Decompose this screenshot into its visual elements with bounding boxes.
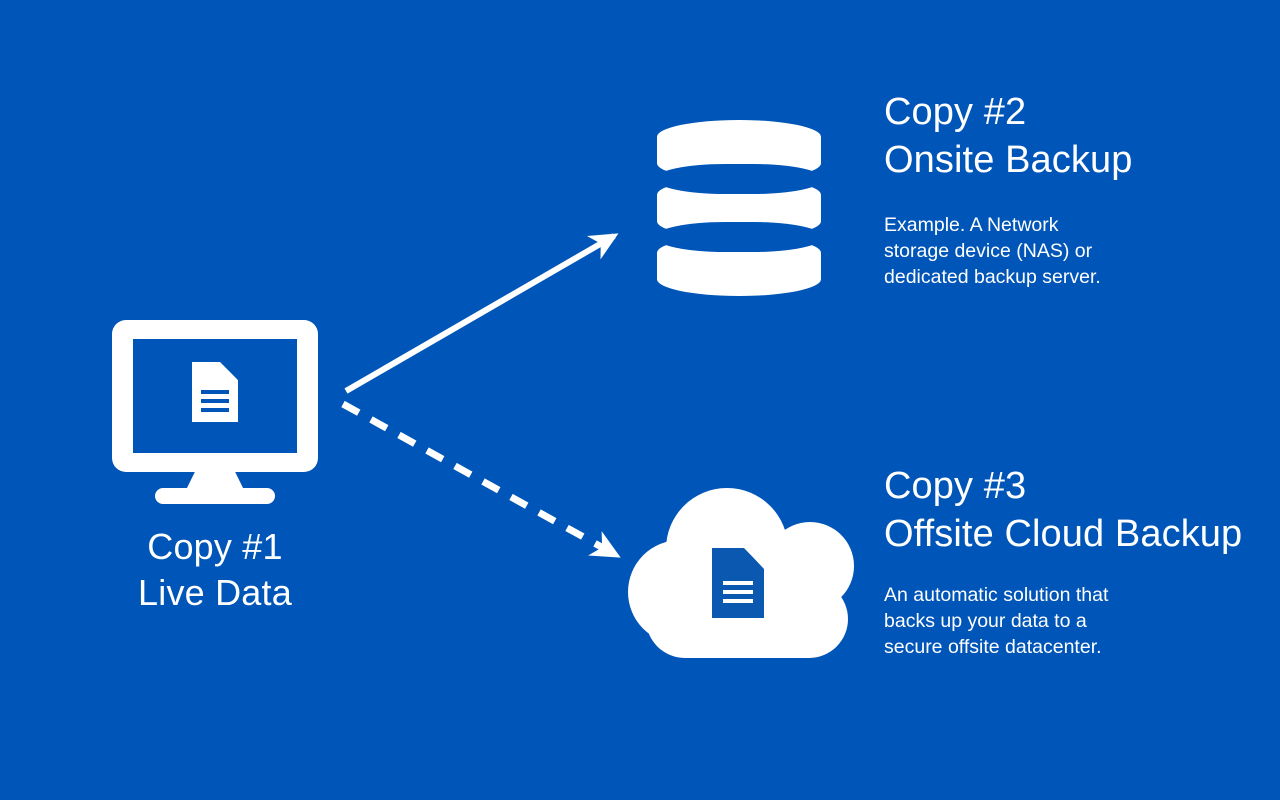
document-icon: [192, 362, 238, 422]
diagram-canvas: Copy #1 Live Data Copy #2 Onsite Backup …: [0, 0, 1280, 800]
cloud-icon: [628, 488, 864, 660]
desktop-monitor-icon: [100, 312, 330, 502]
text-block-copy2: Copy #2 Onsite Backup Example. A Network…: [884, 88, 1274, 290]
database-groove-lower: [655, 222, 823, 252]
copy2-heading: Copy #2 Onsite Backup: [884, 88, 1274, 184]
text-block-copy3: Copy #3 Offsite Cloud Backup An automati…: [884, 462, 1280, 660]
database-groove-upper: [655, 164, 823, 194]
copy3-description: An automatic solution that backs up your…: [884, 582, 1280, 660]
document-icon: [712, 548, 764, 618]
copy3-heading: Copy #3 Offsite Cloud Backup: [884, 462, 1280, 558]
arrow-to-onsite-backup: [346, 236, 614, 391]
node-copy1-live-data: Copy #1 Live Data: [100, 312, 330, 616]
database-stack-icon: [657, 120, 821, 296]
document-text-lines: [201, 390, 229, 417]
arrow-to-offsite-cloud-backup: [343, 404, 616, 555]
node-copy1-label: Copy #1 Live Data: [100, 524, 330, 616]
monitor-stand-base: [155, 488, 275, 504]
document-text-lines: [723, 581, 753, 608]
copy2-description: Example. A Network storage device (NAS) …: [884, 212, 1274, 290]
